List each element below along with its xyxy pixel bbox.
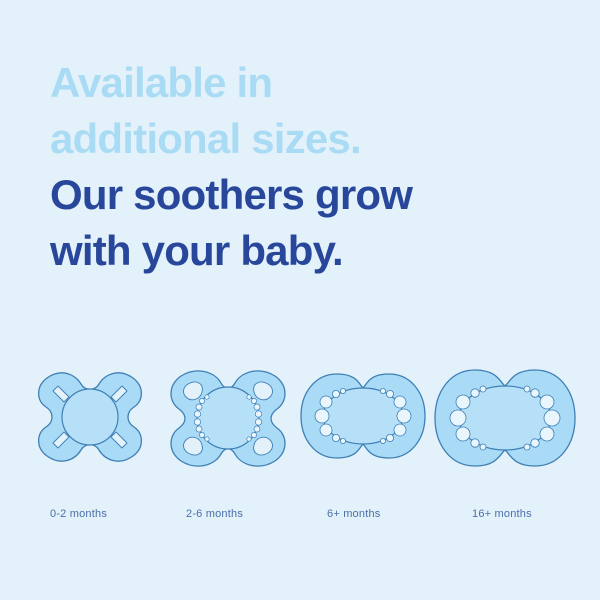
- soother-caption-0-2: 0-2 months: [50, 508, 107, 520]
- headline-block: Available in additional sizes. Our sooth…: [50, 55, 520, 279]
- soother-newborn-icon: [25, 360, 155, 495]
- headline-line-1: Available in: [50, 55, 520, 111]
- soother-caption-6-plus: 6+ months: [327, 508, 380, 520]
- headline-line-3: Our soothers grow: [50, 167, 520, 223]
- soother-medium-icon: [293, 360, 433, 495]
- soother-size-row: 0-2 months: [0, 360, 600, 540]
- poster-canvas: Available in additional sizes. Our sooth…: [0, 0, 600, 600]
- soother-caption-16-plus: 16+ months: [472, 508, 532, 520]
- soother-item-6-plus-months: 6+ months: [283, 360, 443, 540]
- soother-item-16-plus-months: 16+ months: [420, 360, 590, 540]
- headline-line-2: additional sizes.: [50, 111, 520, 167]
- soother-large-icon: [427, 360, 583, 495]
- soother-small-icon: [157, 360, 299, 495]
- soother-item-0-2-months: 0-2 months: [10, 360, 170, 540]
- headline-line-4: with your baby.: [50, 223, 520, 279]
- soother-caption-2-6: 2-6 months: [186, 508, 243, 520]
